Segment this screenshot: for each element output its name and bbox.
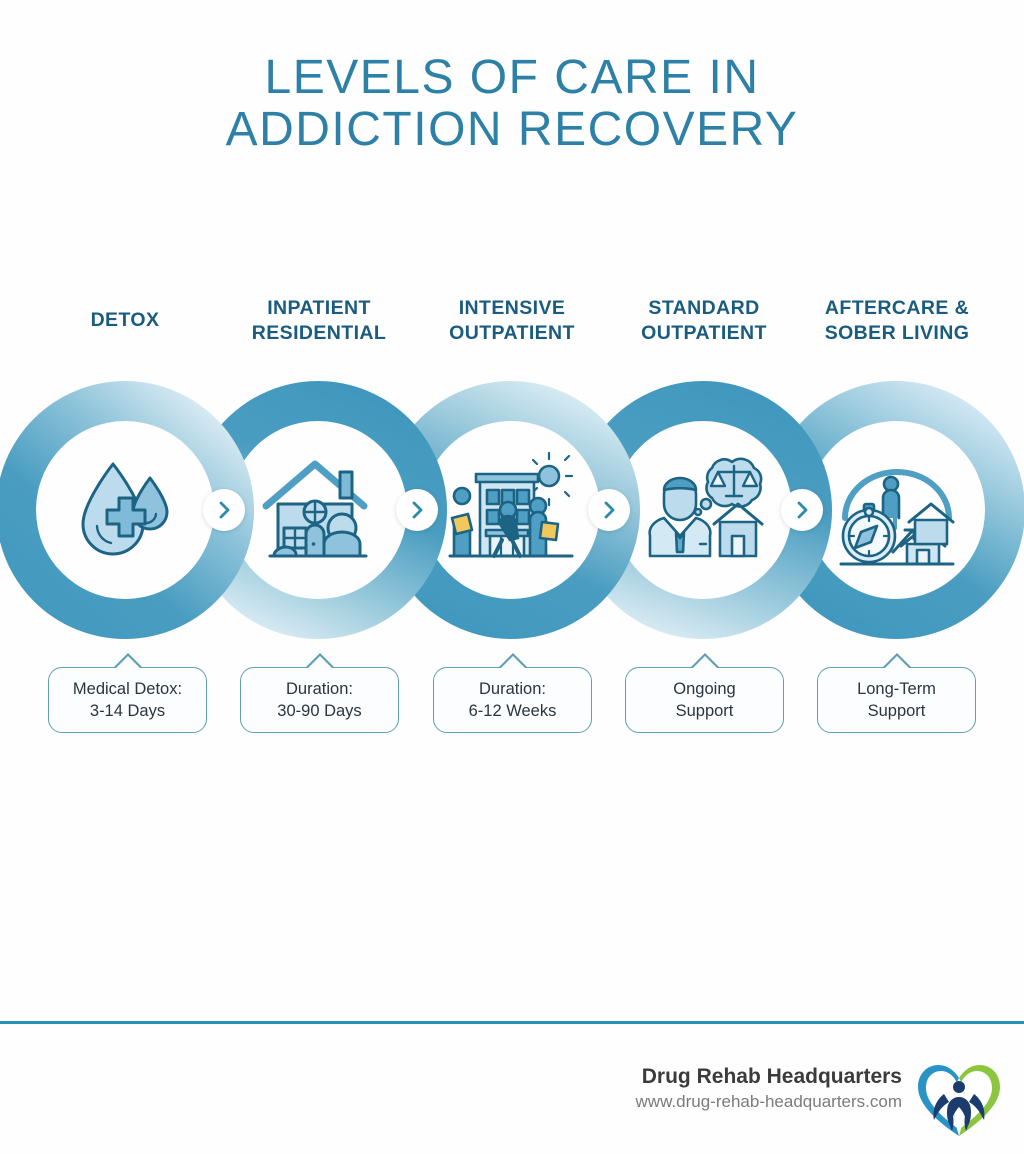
step-label-aftercare-sober-living: AFTERCARE & SOBER LIVING (782, 296, 1012, 346)
clinic-building-people-sun-icon (446, 448, 576, 572)
caption-iop-line1: Duration: (479, 680, 546, 698)
levels-of-care-steps: DETOX INPATIENT RESIDENTIAL INTENSIVE OU… (0, 0, 1024, 1154)
caption-op-line2: Support (676, 702, 734, 720)
connector-arrow-4[interactable] (781, 489, 823, 531)
footer-divider (0, 1021, 1024, 1024)
caption-inpatient-residential: Duration: 30-90 Days (240, 667, 399, 733)
ring-inner-2 (229, 421, 407, 599)
compass-person-arch-houses-icon (831, 448, 961, 572)
brand-name: Drug Rehab Headquarters (636, 1064, 902, 1090)
footer: Drug Rehab Headquarters www.drug-rehab-h… (0, 1060, 1024, 1154)
house-with-person-icon (254, 448, 382, 572)
ring-inner-1 (36, 421, 214, 599)
chevron-right-icon (215, 501, 233, 519)
chevron-right-icon (600, 501, 618, 519)
caption-aftercare-line1: Long-Term (857, 680, 936, 698)
step-label-aftercare-line1: AFTERCARE & (782, 296, 1012, 321)
ring-inner-4 (614, 421, 792, 599)
step-label-aftercare-line2: SOBER LIVING (782, 321, 1012, 346)
water-drop-medical-cross-icon (63, 448, 187, 572)
caption-aftercare-line2: Support (868, 702, 926, 720)
caption-standard-outpatient: Ongoing Support (625, 667, 784, 733)
ring-inner-5 (807, 421, 985, 599)
caption-detox: Medical Detox: 3-14 Days (48, 667, 207, 733)
caption-detox-line2: 3-14 Days (90, 702, 165, 720)
caption-aftercare-sober-living: Long-Term Support (817, 667, 976, 733)
caption-detox-line1: Medical Detox: (73, 680, 182, 698)
caption-inpatient-line1: Duration: (286, 680, 353, 698)
connector-arrow-2[interactable] (396, 489, 438, 531)
caption-intensive-outpatient: Duration: 6-12 Weeks (433, 667, 592, 733)
connector-arrow-1[interactable] (203, 489, 245, 531)
caption-op-line1: Ongoing (673, 680, 735, 698)
chevron-right-icon (408, 501, 426, 519)
brand-logo (916, 1062, 1002, 1140)
caption-iop-line2: 6-12 Weeks (469, 702, 557, 720)
caption-inpatient-line2: 30-90 Days (277, 702, 361, 720)
heart-person-logo-icon (916, 1062, 1002, 1140)
brand-text-block: Drug Rehab Headquarters www.drug-rehab-h… (636, 1064, 902, 1114)
connector-arrow-3[interactable] (588, 489, 630, 531)
brand-url[interactable]: www.drug-rehab-headquarters.com (636, 1090, 902, 1114)
counselor-thought-bubble-scales-house-icon (638, 448, 768, 572)
chevron-right-icon (793, 501, 811, 519)
ring-inner-3 (422, 421, 600, 599)
